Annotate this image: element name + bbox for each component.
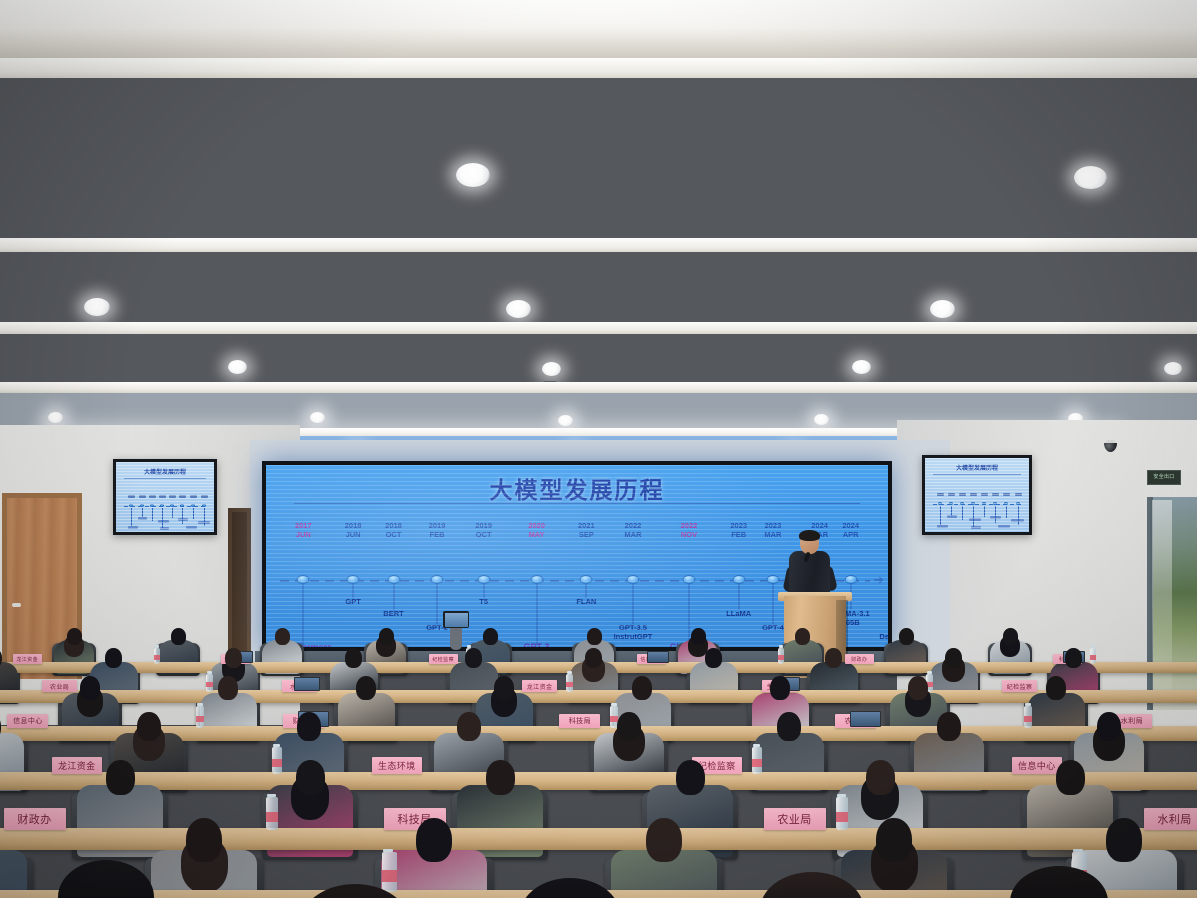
foreground-head-silhouette (58, 860, 154, 898)
name-card-text: 纪检监察 (432, 656, 454, 663)
timeline-node-8 (682, 575, 695, 584)
timeline-stem-9 (738, 584, 739, 610)
table-name-card: 农业局 (764, 808, 826, 830)
audience-person-head (297, 712, 321, 741)
timeline-node-0 (297, 575, 310, 584)
audience-person-head (1106, 818, 1142, 862)
name-card-text: 农业局 (50, 682, 69, 691)
audience-person-head (67, 628, 82, 645)
table-name-card: 科技局 (559, 714, 600, 728)
bottle-cap (753, 744, 760, 747)
name-card-text: 生态环境 (378, 759, 416, 772)
bottle-label (382, 870, 397, 882)
table-name-card: 龙江资金 (522, 680, 557, 692)
ceiling-downlight (456, 163, 490, 187)
table-name-card: 水利局 (1144, 808, 1197, 830)
bottle-label (752, 759, 762, 767)
timeline-date-9: 2023 FEB (730, 521, 747, 539)
bottle-label (566, 682, 573, 687)
water-bottle (1090, 648, 1096, 664)
audience-person-head (105, 648, 122, 668)
water-bottle (566, 674, 573, 692)
water-bottle (778, 648, 784, 664)
audience-person-head (483, 628, 498, 645)
timeline-node-1 (347, 575, 360, 584)
timeline-date-10: 2023 MAR (764, 521, 781, 539)
water-bottle (1024, 706, 1032, 728)
audience-person-head (945, 648, 962, 668)
bottle-cap (611, 703, 617, 706)
ceiling-downlight (1164, 362, 1182, 375)
name-card-text: 水利局 (1157, 811, 1191, 827)
side-monitor-right-title: 大模型发展历程 (925, 463, 1029, 472)
audience-person-head (345, 648, 362, 668)
audience-person-head (186, 818, 222, 862)
name-card-text: 财政办 (851, 656, 867, 663)
timeline-node-4 (477, 575, 490, 584)
bottle-cap (197, 703, 203, 706)
timeline-node-9 (732, 575, 745, 584)
audience-person-head (795, 628, 810, 645)
table-name-card: 信息中心 (7, 714, 48, 728)
timeline-date-0: 2017 JUN (295, 521, 312, 539)
exit-sign-label: 安全出口 (1148, 471, 1180, 484)
table-name-card: 信息中心 (1012, 757, 1062, 774)
side-monitor-left-title: 大模型发展历程 (116, 467, 214, 476)
bottle-label (206, 682, 213, 687)
bottle-cap (1073, 849, 1084, 852)
table-name-card: 纪检监察 (1002, 680, 1037, 692)
timeline-label-2: BERT (383, 610, 403, 619)
ceiling-panel-3 (0, 334, 1197, 384)
laptop (294, 677, 320, 691)
audience-desk-row-4 (0, 828, 1197, 850)
bottle-cap (273, 744, 280, 747)
audience-person-head (218, 676, 238, 700)
timeline-label-9: LLaMA (726, 610, 751, 619)
table-name-card: 农业局 (42, 680, 77, 692)
audience-person-head (908, 676, 928, 700)
tablet-screen (445, 613, 468, 627)
bottle-cap (383, 849, 394, 852)
audience-person-head (617, 712, 641, 741)
audience-person-head (1056, 760, 1085, 795)
timeline-arrow-icon: ➜ (873, 575, 884, 585)
timeline-label-1: GPT (345, 598, 360, 607)
name-card-text: 水利局 (1121, 716, 1143, 726)
audience-person-head (1097, 712, 1121, 741)
name-card-text: 龙江资金 (16, 656, 38, 663)
bottle-label (836, 812, 848, 822)
ceiling-panel-1 (0, 78, 1197, 240)
audience-person-head (825, 648, 842, 668)
audience-person-head (866, 760, 895, 795)
audience-person-head (465, 648, 482, 668)
timeline-stem-2 (393, 584, 394, 610)
timeline-date-2: 2018 OCT (385, 521, 402, 539)
bottle-cap (207, 671, 212, 674)
timeline-label-7: GPT-3.5 InstrutGPT (614, 624, 653, 641)
bottle-cap (927, 671, 932, 674)
name-card-text: 科技局 (569, 716, 591, 726)
audience-person-head (770, 676, 790, 700)
conference-room-photo: 安全出口 大模型发展历程 (0, 0, 1197, 898)
timeline-label-5: GPT-3 (524, 643, 550, 647)
name-card-text: 信息中心 (1018, 759, 1056, 772)
handheld-tablet (443, 611, 469, 628)
audience-person-head (379, 628, 394, 645)
audience-person-head (876, 818, 912, 862)
bottle-cap (1091, 645, 1095, 648)
audience-person-head (646, 818, 682, 862)
water-bottle (266, 797, 278, 830)
bottle-label (266, 812, 278, 822)
bottle-label (1024, 716, 1032, 723)
audience-person-head (486, 760, 515, 795)
ceiling-downlight (228, 360, 247, 374)
timeline-axis (280, 580, 870, 582)
side-monitor-right: 大模型发展历程 (922, 455, 1032, 535)
slide-title-rule (294, 503, 860, 504)
water-bottle (272, 747, 282, 774)
water-bottle (752, 747, 762, 774)
timeline-date-12: 2024 APR (842, 521, 859, 539)
slide-title: 大模型发展历程 (266, 471, 888, 505)
audience-person-head (171, 628, 186, 645)
ceiling-downlight (930, 300, 955, 318)
water-bottle (836, 797, 848, 830)
audience-person-head (137, 712, 161, 741)
name-card-text: 龙江资金 (527, 682, 553, 691)
bottle-label (1090, 655, 1096, 660)
timeline-date-5: 2020 MAY (528, 521, 545, 539)
audience-person-head (275, 628, 290, 645)
ceiling-beam-1 (0, 0, 1197, 62)
timeline-label-4: T5 (479, 598, 488, 607)
audience-person-head (705, 648, 722, 668)
audience-person-head (225, 648, 242, 668)
bottle-cap (837, 794, 846, 797)
rear-door[interactable] (232, 512, 247, 670)
audience-person-head (587, 628, 602, 645)
timeline-node-5 (530, 575, 543, 584)
bottle-label (196, 716, 204, 723)
timeline-label-13: O1 DeepSeek (879, 624, 888, 641)
audience-person-head (1003, 628, 1018, 645)
table-name-card: 纪检监察 (429, 654, 458, 664)
bottle-label (154, 655, 160, 660)
audience-person-head (585, 648, 602, 668)
audience-person-head (632, 676, 652, 700)
timeline-node-6 (580, 575, 593, 584)
timeline-node-12 (844, 575, 857, 584)
laptop (850, 711, 881, 727)
timeline-stem-4 (483, 584, 484, 598)
exit-sign: 安全出口 (1147, 470, 1181, 485)
audience-desk-row-3 (0, 772, 1197, 790)
timeline-node-3 (431, 575, 444, 584)
window-glare (1152, 500, 1172, 705)
bottle-cap (567, 671, 572, 674)
water-bottle (382, 852, 397, 892)
timeline-stem-1 (353, 584, 354, 598)
timeline-node-2 (387, 575, 400, 584)
timeline-date-4: 2019 OCT (475, 521, 492, 539)
audience-person-head (106, 760, 135, 795)
timeline-stem-3 (437, 584, 438, 624)
ceiling-downlight (558, 415, 573, 426)
laptop-screen (851, 712, 880, 726)
audience-person-head (80, 676, 100, 700)
ceiling-downlight (1074, 166, 1107, 189)
side-monitor-left: 大模型发展历程 (113, 459, 217, 535)
bottle-label (778, 655, 784, 660)
audience-person-head (777, 712, 801, 741)
table-name-card: 龙江资金 (13, 654, 42, 664)
ceiling-downlight (84, 298, 110, 316)
audience-person-head (356, 676, 376, 700)
audience-person-head (416, 818, 452, 862)
timeline-date-6: 2021 SEP (578, 521, 595, 539)
timeline-label-10: GPT-4 (762, 624, 784, 633)
ceiling-downlight (506, 300, 531, 318)
ceiling-downlight (814, 414, 829, 425)
ceiling-downlight (852, 360, 871, 374)
bottle-cap (1025, 703, 1031, 706)
name-card-text: 信息中心 (13, 716, 43, 726)
timeline-stem-7 (632, 584, 633, 624)
audience-person-head (937, 712, 961, 741)
ceiling-downlight (542, 362, 561, 376)
table-name-card: 财政办 (845, 654, 874, 664)
timeline-date-8: 2022 NOV (681, 521, 698, 539)
timeline-stem-8 (688, 584, 689, 646)
table-name-card: 财政办 (4, 808, 66, 830)
name-card-text: 农业局 (777, 811, 811, 827)
audience-person-head (457, 712, 481, 741)
audience-person-head (494, 676, 514, 700)
timeline-date-3: 2019 FEB (429, 521, 446, 539)
timeline-date-7: 2022 MAR (624, 521, 641, 539)
name-card-text: 龙江资金 (58, 759, 96, 772)
timeline-node-7 (626, 575, 639, 584)
timeline-stem-5 (536, 584, 537, 646)
speaker-hair (799, 530, 820, 541)
timeline-stem-0 (303, 584, 304, 646)
bottle-cap (155, 645, 159, 648)
laptop-screen (648, 652, 668, 662)
ceiling-downlight (48, 412, 63, 423)
audience-person-head (899, 628, 914, 645)
audience-person-head (676, 760, 705, 795)
timeline-date-1: 2018 JUN (345, 521, 362, 539)
ceiling-downlight (310, 412, 325, 423)
name-card-text: 纪检监察 (1007, 682, 1033, 691)
audience-person-head (691, 628, 706, 645)
audience-person-head (1046, 676, 1066, 700)
water-bottle (154, 648, 160, 664)
ceiling-beam-2 (0, 58, 1197, 80)
water-bottle (196, 706, 204, 728)
water-bottle (206, 674, 213, 692)
table-name-card: 龙江资金 (52, 757, 102, 774)
timeline-stem-6 (586, 584, 587, 598)
ceiling-panel-2 (0, 252, 1197, 324)
bottle-cap (267, 794, 276, 797)
laptop (647, 651, 669, 663)
timeline-node-10 (766, 575, 779, 584)
timeline-label-6: FLAN (576, 598, 596, 607)
bottle-cap (779, 645, 783, 648)
door-handle-icon[interactable] (12, 603, 21, 607)
audience-person-head (296, 760, 325, 795)
bottle-label (272, 759, 282, 767)
audience-person-head (1065, 648, 1082, 668)
ceiling-dome-camera-icon (1104, 440, 1117, 451)
name-card-text: 财政办 (17, 811, 51, 827)
table-name-card: 生态环境 (372, 757, 422, 774)
laptop-screen (295, 678, 319, 690)
timeline-stem-10 (772, 584, 773, 624)
